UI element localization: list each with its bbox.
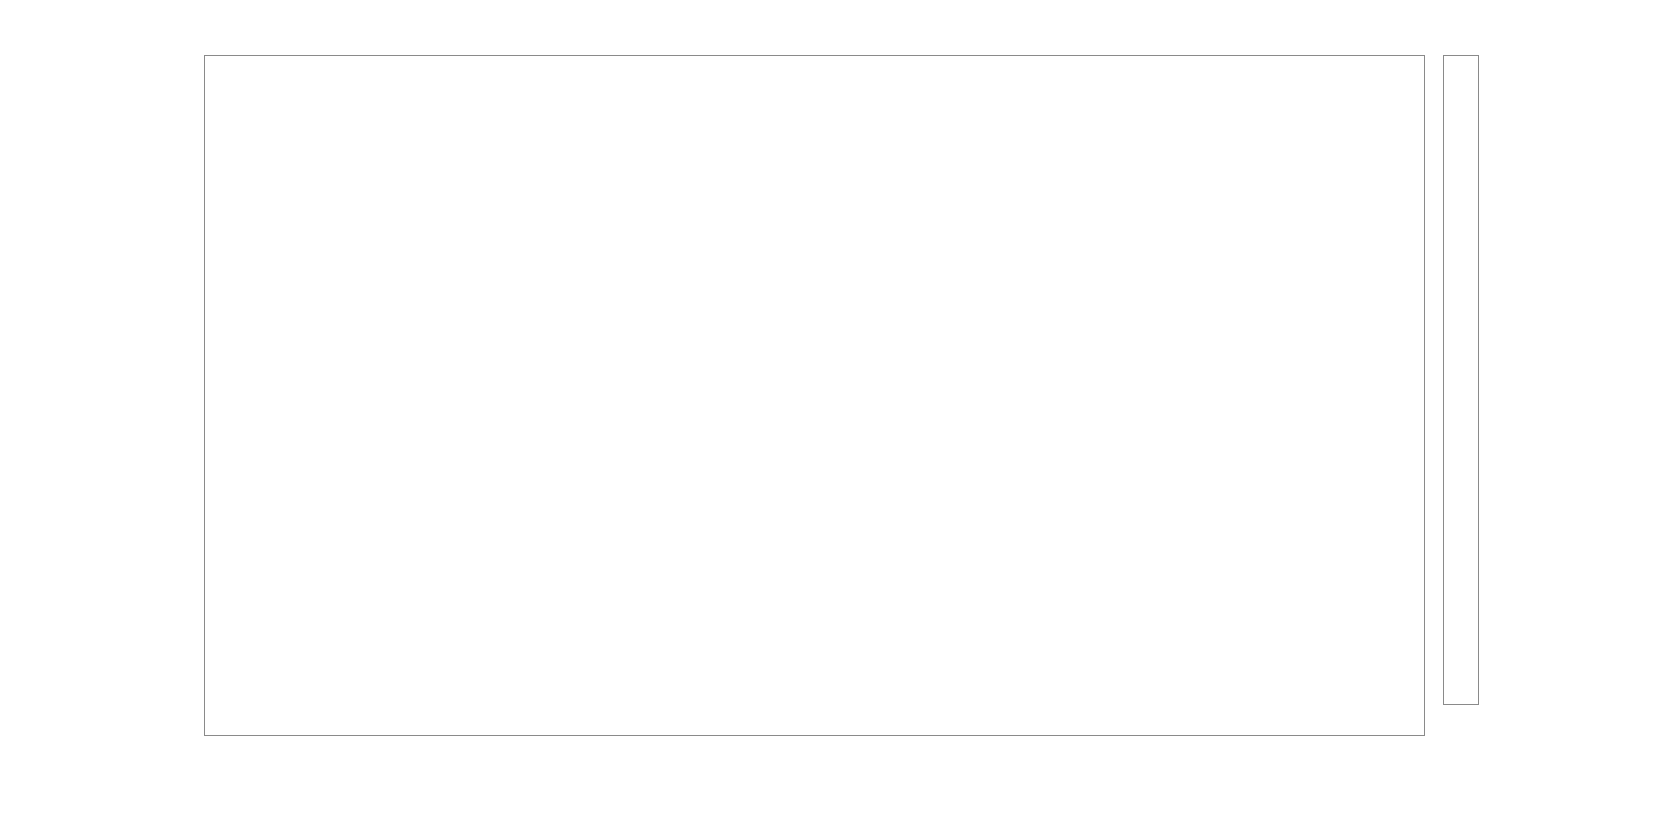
oxygen-section-heatmap xyxy=(205,56,1423,734)
colorbar[interactable] xyxy=(1443,55,1479,705)
plot-area[interactable] xyxy=(204,55,1425,736)
heatmap-layer xyxy=(205,56,1424,735)
figure-root xyxy=(0,0,1667,834)
colorbar-gradient xyxy=(1444,56,1477,703)
